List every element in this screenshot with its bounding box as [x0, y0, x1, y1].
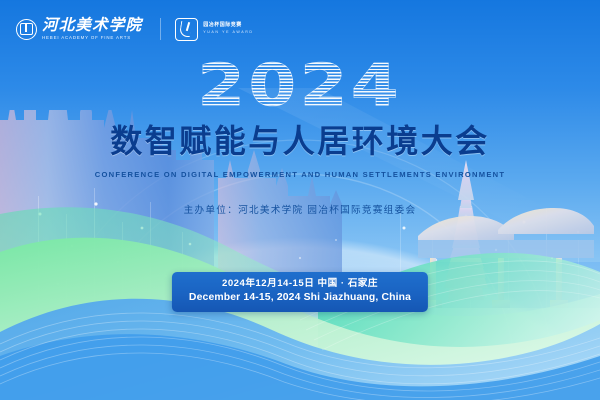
hill-line-texture: [0, 313, 600, 400]
date-location-badge: 2024年12月14-15日 中国 · 石家庄 December 14-15, …: [172, 272, 428, 312]
header-logo-bar: 河北美术学院 HEBEI ACADEMY OF FINE ARTS 园冶杯国际竞…: [0, 0, 600, 58]
year-headline-wrap: 2024: [0, 56, 600, 114]
title-block: 数智赋能与人居环境大会 CONFERENCE ON DIGITAL EMPOWE…: [0, 124, 600, 216]
rounded-square-mark-icon: [175, 18, 198, 41]
secondary-logo[interactable]: 园冶杯国际竞赛 YUAN YE AWARD: [175, 18, 253, 41]
primary-logo[interactable]: 河北美术学院 HEBEI ACADEMY OF FINE ARTS: [16, 18, 142, 41]
circular-seal-icon: [16, 19, 37, 40]
secondary-logo-name-cn: 园冶杯国际竞赛: [203, 23, 253, 28]
conference-banner: 河北美术学院 HEBEI ACADEMY OF FINE ARTS 园冶杯国际竞…: [0, 0, 600, 400]
organizer-line: 主办单位：河北美术学院 园冶杯国际竞赛组委会: [0, 202, 600, 216]
conference-title-cn: 数智赋能与人居环境大会: [0, 124, 600, 160]
conference-subtitle-en: CONFERENCE ON DIGITAL EMPOWERMENT AND HU…: [0, 170, 600, 179]
primary-logo-name-en: HEBEI ACADEMY OF FINE ARTS: [42, 36, 142, 41]
year-headline: 2024: [198, 56, 403, 114]
primary-logo-name-cn: 河北美术学院: [42, 18, 142, 34]
chinese-pavilion-silhouette: [418, 208, 600, 308]
logo-divider: [160, 18, 161, 40]
secondary-logo-subtitle: YUAN YE AWARD: [203, 31, 253, 35]
date-location-cn: 2024年12月14-15日 中国 · 石家庄: [189, 278, 411, 290]
date-location-en: December 14-15, 2024 Shi Jiazhuang, Chin…: [189, 291, 411, 305]
